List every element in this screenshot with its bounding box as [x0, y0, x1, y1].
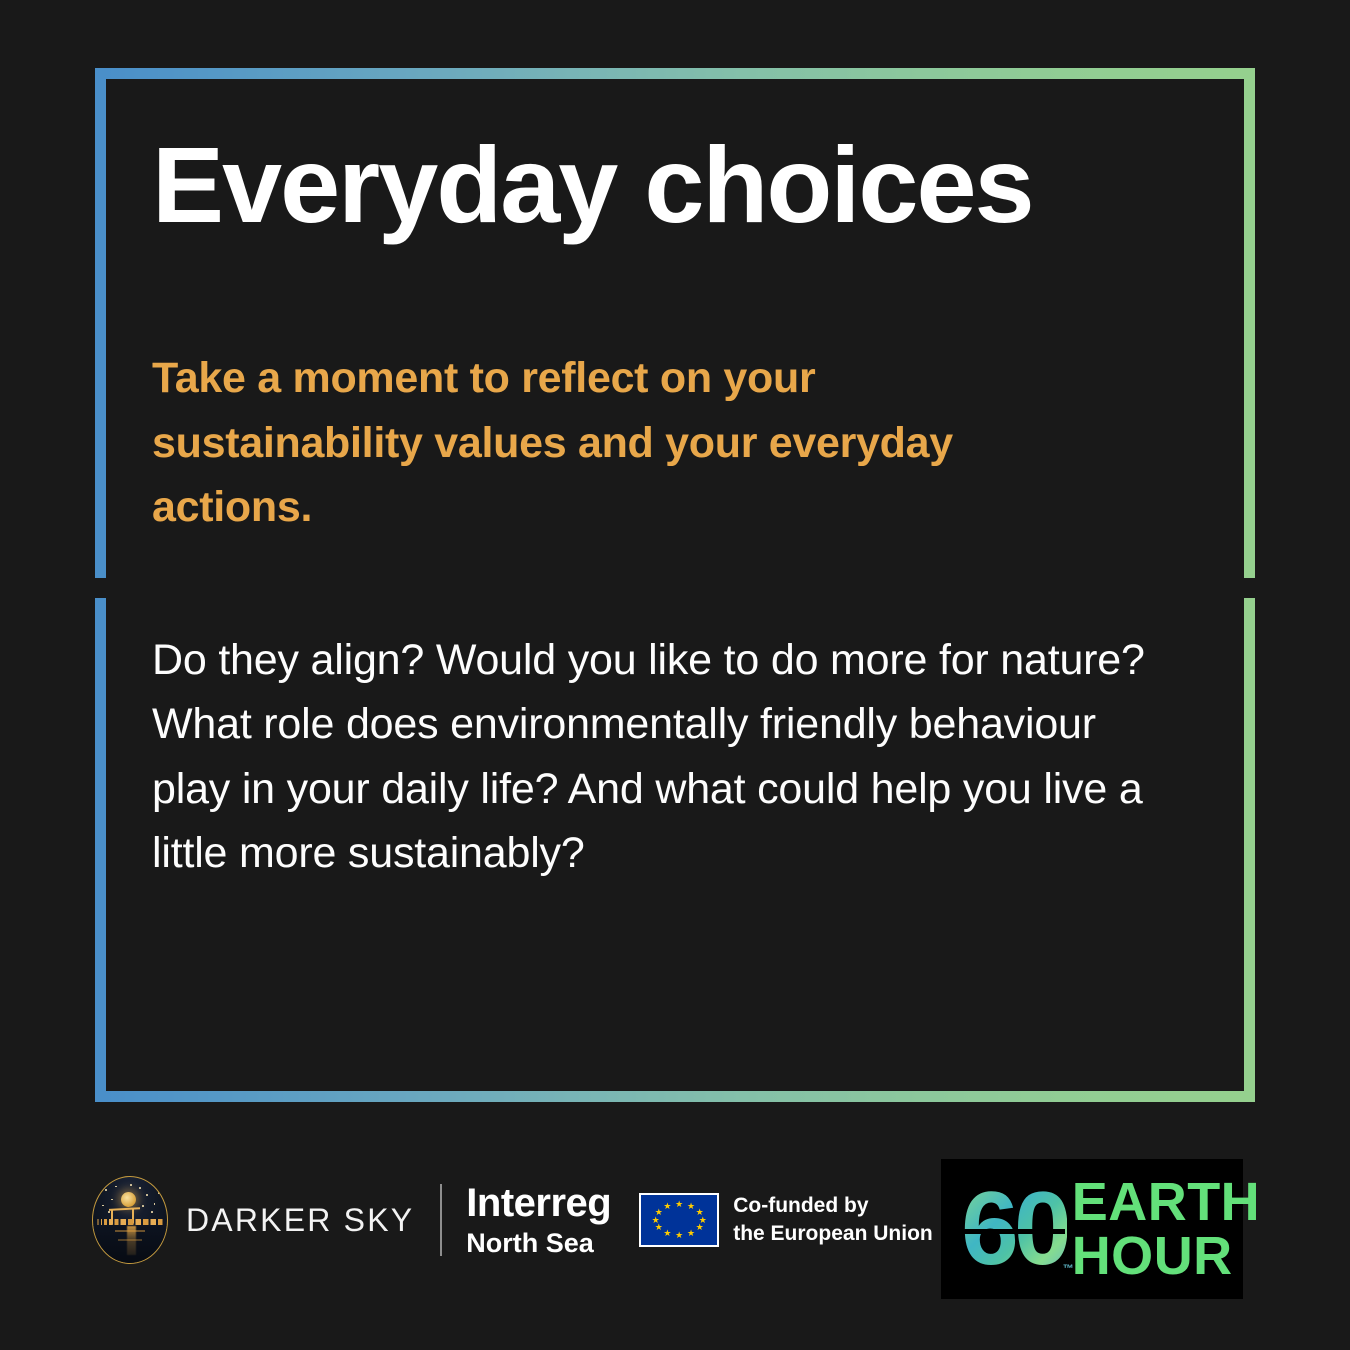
night-sky-emblem-icon [92, 1176, 168, 1264]
european-union-flag-icon: ★★★★★★★★★★★★ [639, 1193, 719, 1247]
eu-star-icon: ★ [651, 1216, 660, 1225]
eu-star-icon: ★ [695, 1223, 704, 1232]
eu-star-icon: ★ [663, 1202, 672, 1211]
eu-star-icon: ★ [654, 1223, 663, 1232]
eu-funding-logo: ★★★★★★★★★★★★ Co-funded by the European U… [639, 1192, 933, 1247]
interreg-logo: Interreg North Sea [466, 1183, 611, 1257]
logo-divider [440, 1184, 442, 1256]
earth-hour-wordmark: EARTH HOUR [1072, 1177, 1261, 1282]
eu-star-icon: ★ [675, 1200, 684, 1209]
interreg-main-label: Interreg [466, 1183, 611, 1223]
earth-hour-word-bottom: HOUR [1072, 1231, 1261, 1282]
eu-funding-caption: Co-funded by the European Union [733, 1192, 933, 1247]
earth-hour-logo: 60 ™ EARTH HOUR [941, 1159, 1243, 1299]
subheading-text: Take a moment to reflect on your sustain… [152, 346, 1042, 540]
eu-star-icon: ★ [663, 1229, 672, 1238]
emblem-oval-frame [92, 1176, 168, 1264]
page-title: Everyday choices [152, 130, 1182, 240]
partner-logo-strip: DARKER SKY Interreg North Sea ★★★★★★★★★★… [92, 1176, 933, 1264]
social-post-canvas: Everyday choices Take a moment to reflec… [0, 0, 1350, 1350]
earth-hour-word-top: EARTH [1072, 1177, 1261, 1228]
eu-star-icon: ★ [686, 1229, 695, 1238]
earth-hour-number: 60 ™ [961, 1177, 1067, 1281]
eu-star-icon: ★ [675, 1231, 684, 1240]
eu-caption-line-2: the European Union [733, 1222, 933, 1245]
body-text: Do they align? Would you like to do more… [152, 628, 1177, 886]
earth-hour-number-label: 60 [961, 1171, 1067, 1287]
card-content: Everyday choices Take a moment to reflec… [152, 130, 1182, 886]
darker-sky-wordmark: DARKER SKY [186, 1202, 414, 1239]
eu-caption-line-1: Co-funded by [733, 1194, 868, 1217]
interreg-sub-label: North Sea [466, 1230, 611, 1257]
moon-icon [121, 1192, 136, 1207]
trademark-icon: ™ [1063, 1264, 1074, 1275]
footer: DARKER SKY Interreg North Sea ★★★★★★★★★★… [0, 1148, 1350, 1308]
